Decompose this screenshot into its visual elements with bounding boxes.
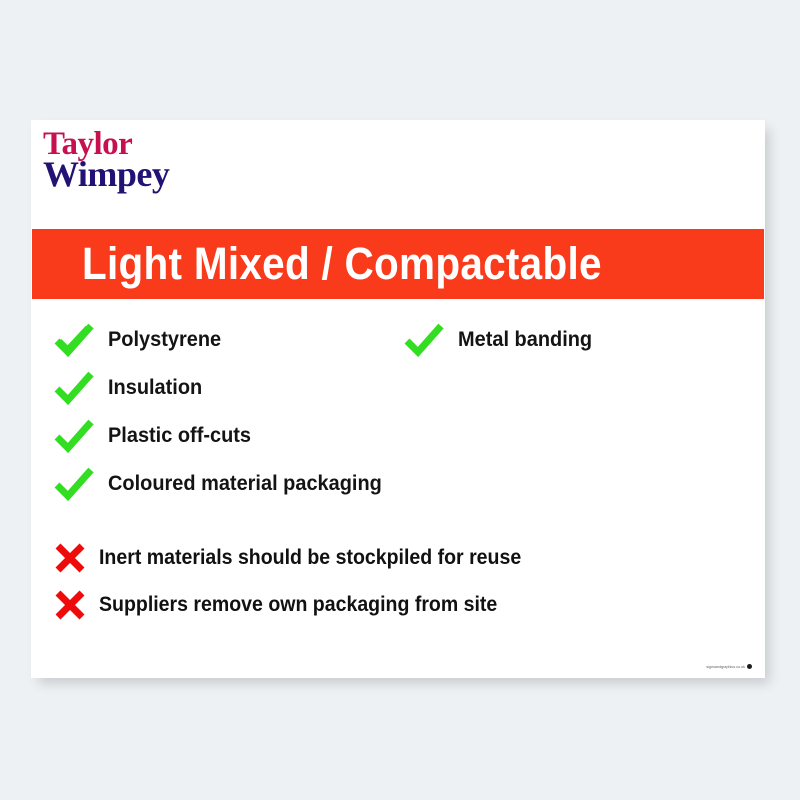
screenshot-stage: Taylor Wimpey Light Mixed / Compactable … (0, 0, 800, 800)
banner-title: Light Mixed / Compactable (82, 238, 602, 290)
green-check-icon (54, 419, 94, 453)
green-check-icon (404, 323, 444, 357)
list-item-label: Coloured material packaging (108, 472, 382, 496)
green-check-icon (54, 371, 94, 405)
list-item: Plastic off-cuts (54, 412, 424, 460)
dot-logo-icon (747, 664, 752, 669)
site-rules-list: Inert materials should be stockpiled for… (54, 534, 754, 628)
list-item: Metal banding (404, 316, 754, 364)
watermark: signsandgraphics.co.uk (706, 664, 752, 669)
poster-body: Polystyrene Insulation Plastic off-cuts (31, 299, 765, 678)
accepted-column-right: Metal banding (404, 316, 754, 364)
list-item: Coloured material packaging (54, 460, 424, 508)
list-item: Polystyrene (54, 316, 424, 364)
list-item-label: Metal banding (458, 328, 592, 352)
list-item-label: Plastic off-cuts (108, 424, 251, 448)
accepted-column-left: Polystyrene Insulation Plastic off-cuts (54, 316, 424, 508)
red-cross-icon (54, 590, 86, 620)
list-item-label: Suppliers remove own packaging from site (99, 593, 497, 617)
list-item-label: Polystyrene (108, 328, 221, 352)
logo-line-wimpey: Wimpey (43, 158, 169, 191)
waste-signage-poster: Taylor Wimpey Light Mixed / Compactable … (31, 120, 765, 678)
green-check-icon (54, 323, 94, 357)
list-item: Suppliers remove own packaging from site (54, 581, 754, 628)
green-check-icon (54, 467, 94, 501)
list-item: Inert materials should be stockpiled for… (54, 534, 754, 581)
list-item-label: Inert materials should be stockpiled for… (99, 546, 521, 570)
list-item-label: Insulation (108, 376, 202, 400)
taylor-wimpey-logo: Taylor Wimpey (43, 129, 169, 191)
watermark-text: signsandgraphics.co.uk (706, 665, 745, 669)
red-cross-icon (54, 543, 86, 573)
list-item: Insulation (54, 364, 424, 412)
category-banner: Light Mixed / Compactable (32, 229, 764, 299)
